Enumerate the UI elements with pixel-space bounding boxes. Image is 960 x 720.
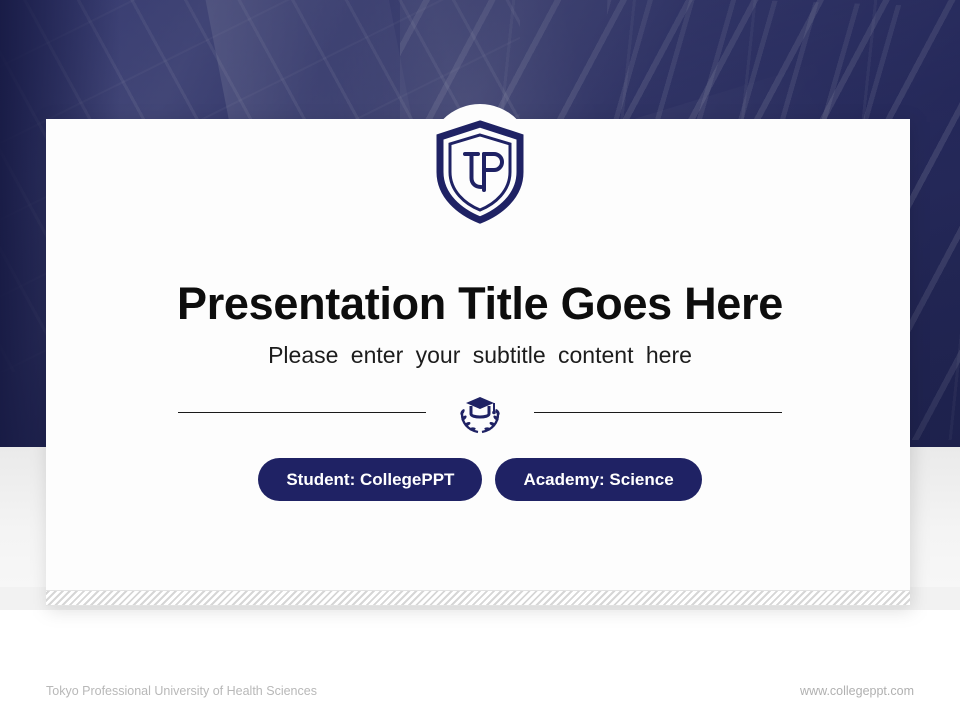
hatched-divider-strip [46,590,910,606]
pill-academy[interactable]: Academy: Science [495,458,701,501]
meta-pill-group: Student: CollegePPT Academy: Science [0,458,960,501]
pill-student[interactable]: Student: CollegePPT [258,458,482,501]
footer-website-link[interactable]: www.collegeppt.com [800,684,914,698]
footer-university-name: Tokyo Professional University of Health … [46,684,317,698]
graduation-cap-laurel-icon [450,390,510,436]
divider-line-left [178,412,426,413]
page-title: Presentation Title Goes Here [0,278,960,330]
section-divider [0,390,960,436]
presentation-slide: Presentation Title Goes Here Please ente… [0,0,960,720]
divider-line-right [534,412,782,413]
footer-background [0,610,960,720]
page-subtitle: Please enter your subtitle content here [0,339,960,371]
university-crest-shield-icon [432,120,528,224]
